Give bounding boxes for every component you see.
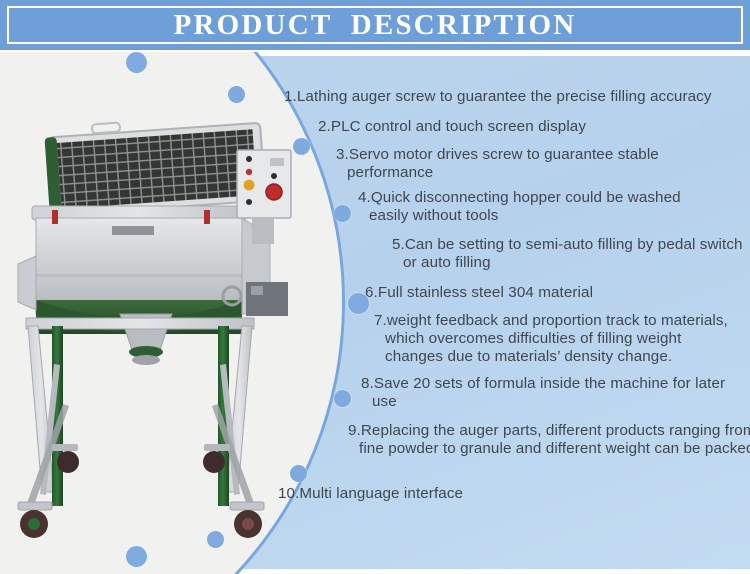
feature-item-7: 7.weight feedback and proportion track t… bbox=[374, 312, 729, 366]
panel-button-red bbox=[246, 169, 252, 175]
caster-wheel-back-right bbox=[203, 451, 225, 473]
machine-illustration bbox=[8, 114, 308, 554]
feature-item-2: 2.PLC control and touch screen display bbox=[318, 118, 750, 136]
feature-item-5: 5.Can be setting to semi-auto filling by… bbox=[392, 236, 743, 272]
panel-button-black bbox=[246, 156, 252, 162]
feature-item-9: 9.Replacing the auger parts, different p… bbox=[348, 422, 750, 458]
feature-item-4: 4.Quick disconnecting hopper could be wa… bbox=[358, 189, 711, 225]
feature-item-3: 3.Servo motor drives screw to guarantee … bbox=[336, 146, 717, 182]
caster-wheel-back-left bbox=[57, 451, 79, 473]
feature-list: 1.Lathing auger screw to guarantee the p… bbox=[268, 88, 750, 574]
page-title: PRODUCT DESCRIPTION bbox=[0, 0, 750, 50]
feature-item-8: 8.Save 20 sets of formula inside the mac… bbox=[361, 375, 732, 411]
product-photo bbox=[8, 114, 308, 554]
panel-button-orange bbox=[244, 180, 255, 191]
feature-item-6: 6.Full stainless steel 304 material bbox=[365, 284, 736, 302]
feature-item-10: 10.Multi language interface bbox=[278, 485, 689, 503]
arc-dot-1 bbox=[126, 52, 147, 73]
feature-item-1: 1.Lathing auger screw to guarantee the p… bbox=[284, 88, 750, 106]
header-banner: PRODUCT DESCRIPTION bbox=[0, 0, 750, 50]
product-description-page: PRODUCT DESCRIPTION bbox=[0, 0, 750, 574]
body-panel: 1.Lathing auger screw to guarantee the p… bbox=[0, 52, 750, 574]
arc-dot-2 bbox=[228, 86, 245, 103]
mesh-safety-lid bbox=[44, 114, 266, 218]
